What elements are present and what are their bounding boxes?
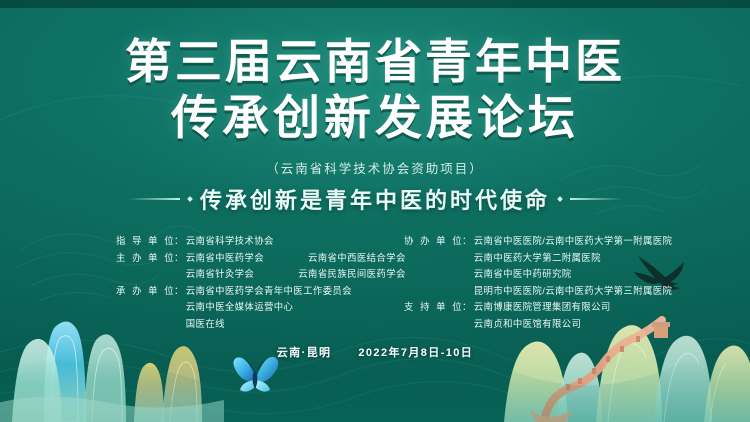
organization-name: 云南贞和中医馆有限公司	[474, 316, 582, 333]
organizations-right-column: 协办单位：云南省中医医院/云南中医药大学第一附属医院指导单位：云南中医药大学第二…	[0, 233, 404, 332]
page-title-line-2: 传承创新发展论坛	[0, 90, 750, 146]
footer-date: 2022年7月8日-10日	[358, 347, 473, 359]
organizations-block: 指导单位：云南省科学技术协会主办单位：云南省中医药学会云南省中西医结合学会指导单…	[0, 233, 750, 332]
organization-name: 云南省中医医院/云南中医药大学第一附属医院	[474, 233, 673, 250]
tagline-dot-left-icon	[187, 196, 193, 202]
title-block: 第三届云南省青年中医 传承创新发展论坛	[0, 34, 750, 146]
tagline-block: 传承创新是青年中医的时代使命	[0, 183, 750, 215]
footer: 云南·昆明 2022年7月8日-10日	[0, 344, 750, 360]
organization-name: 云南博康医院管理集团有限公司	[474, 299, 611, 316]
organization-name: 昆明市中医医院/云南中医药大学第三附属医院	[474, 283, 673, 300]
organization-colon: ：	[462, 299, 472, 316]
tagline-rule-right-icon	[570, 198, 622, 200]
organization-name: 云南省中医中药研究院	[474, 266, 572, 283]
top-band	[0, 0, 750, 8]
page-title-line-1: 第三届云南省青年中医	[0, 34, 750, 90]
organization-label: 协办单位	[404, 233, 462, 250]
forum-poster: 第三届云南省青年中医 传承创新发展论坛 （云南省科学技术协会资助项目） 传承创新…	[0, 0, 750, 422]
tagline: 传承创新是青年中医的时代使命	[200, 183, 550, 215]
organization-colon: ：	[462, 233, 472, 250]
organization-name: 云南中医药大学第二附属医院	[474, 250, 601, 267]
poster-content: 第三届云南省青年中医 传承创新发展论坛 （云南省科学技术协会资助项目） 传承创新…	[0, 0, 750, 422]
subtitle: （云南省科学技术协会资助项目）	[0, 158, 750, 177]
tagline-dot-right-icon	[557, 196, 563, 202]
organization-label: 支持单位	[404, 299, 462, 316]
tagline-rule-left-icon	[128, 198, 180, 200]
footer-location: 云南·昆明	[277, 347, 332, 359]
